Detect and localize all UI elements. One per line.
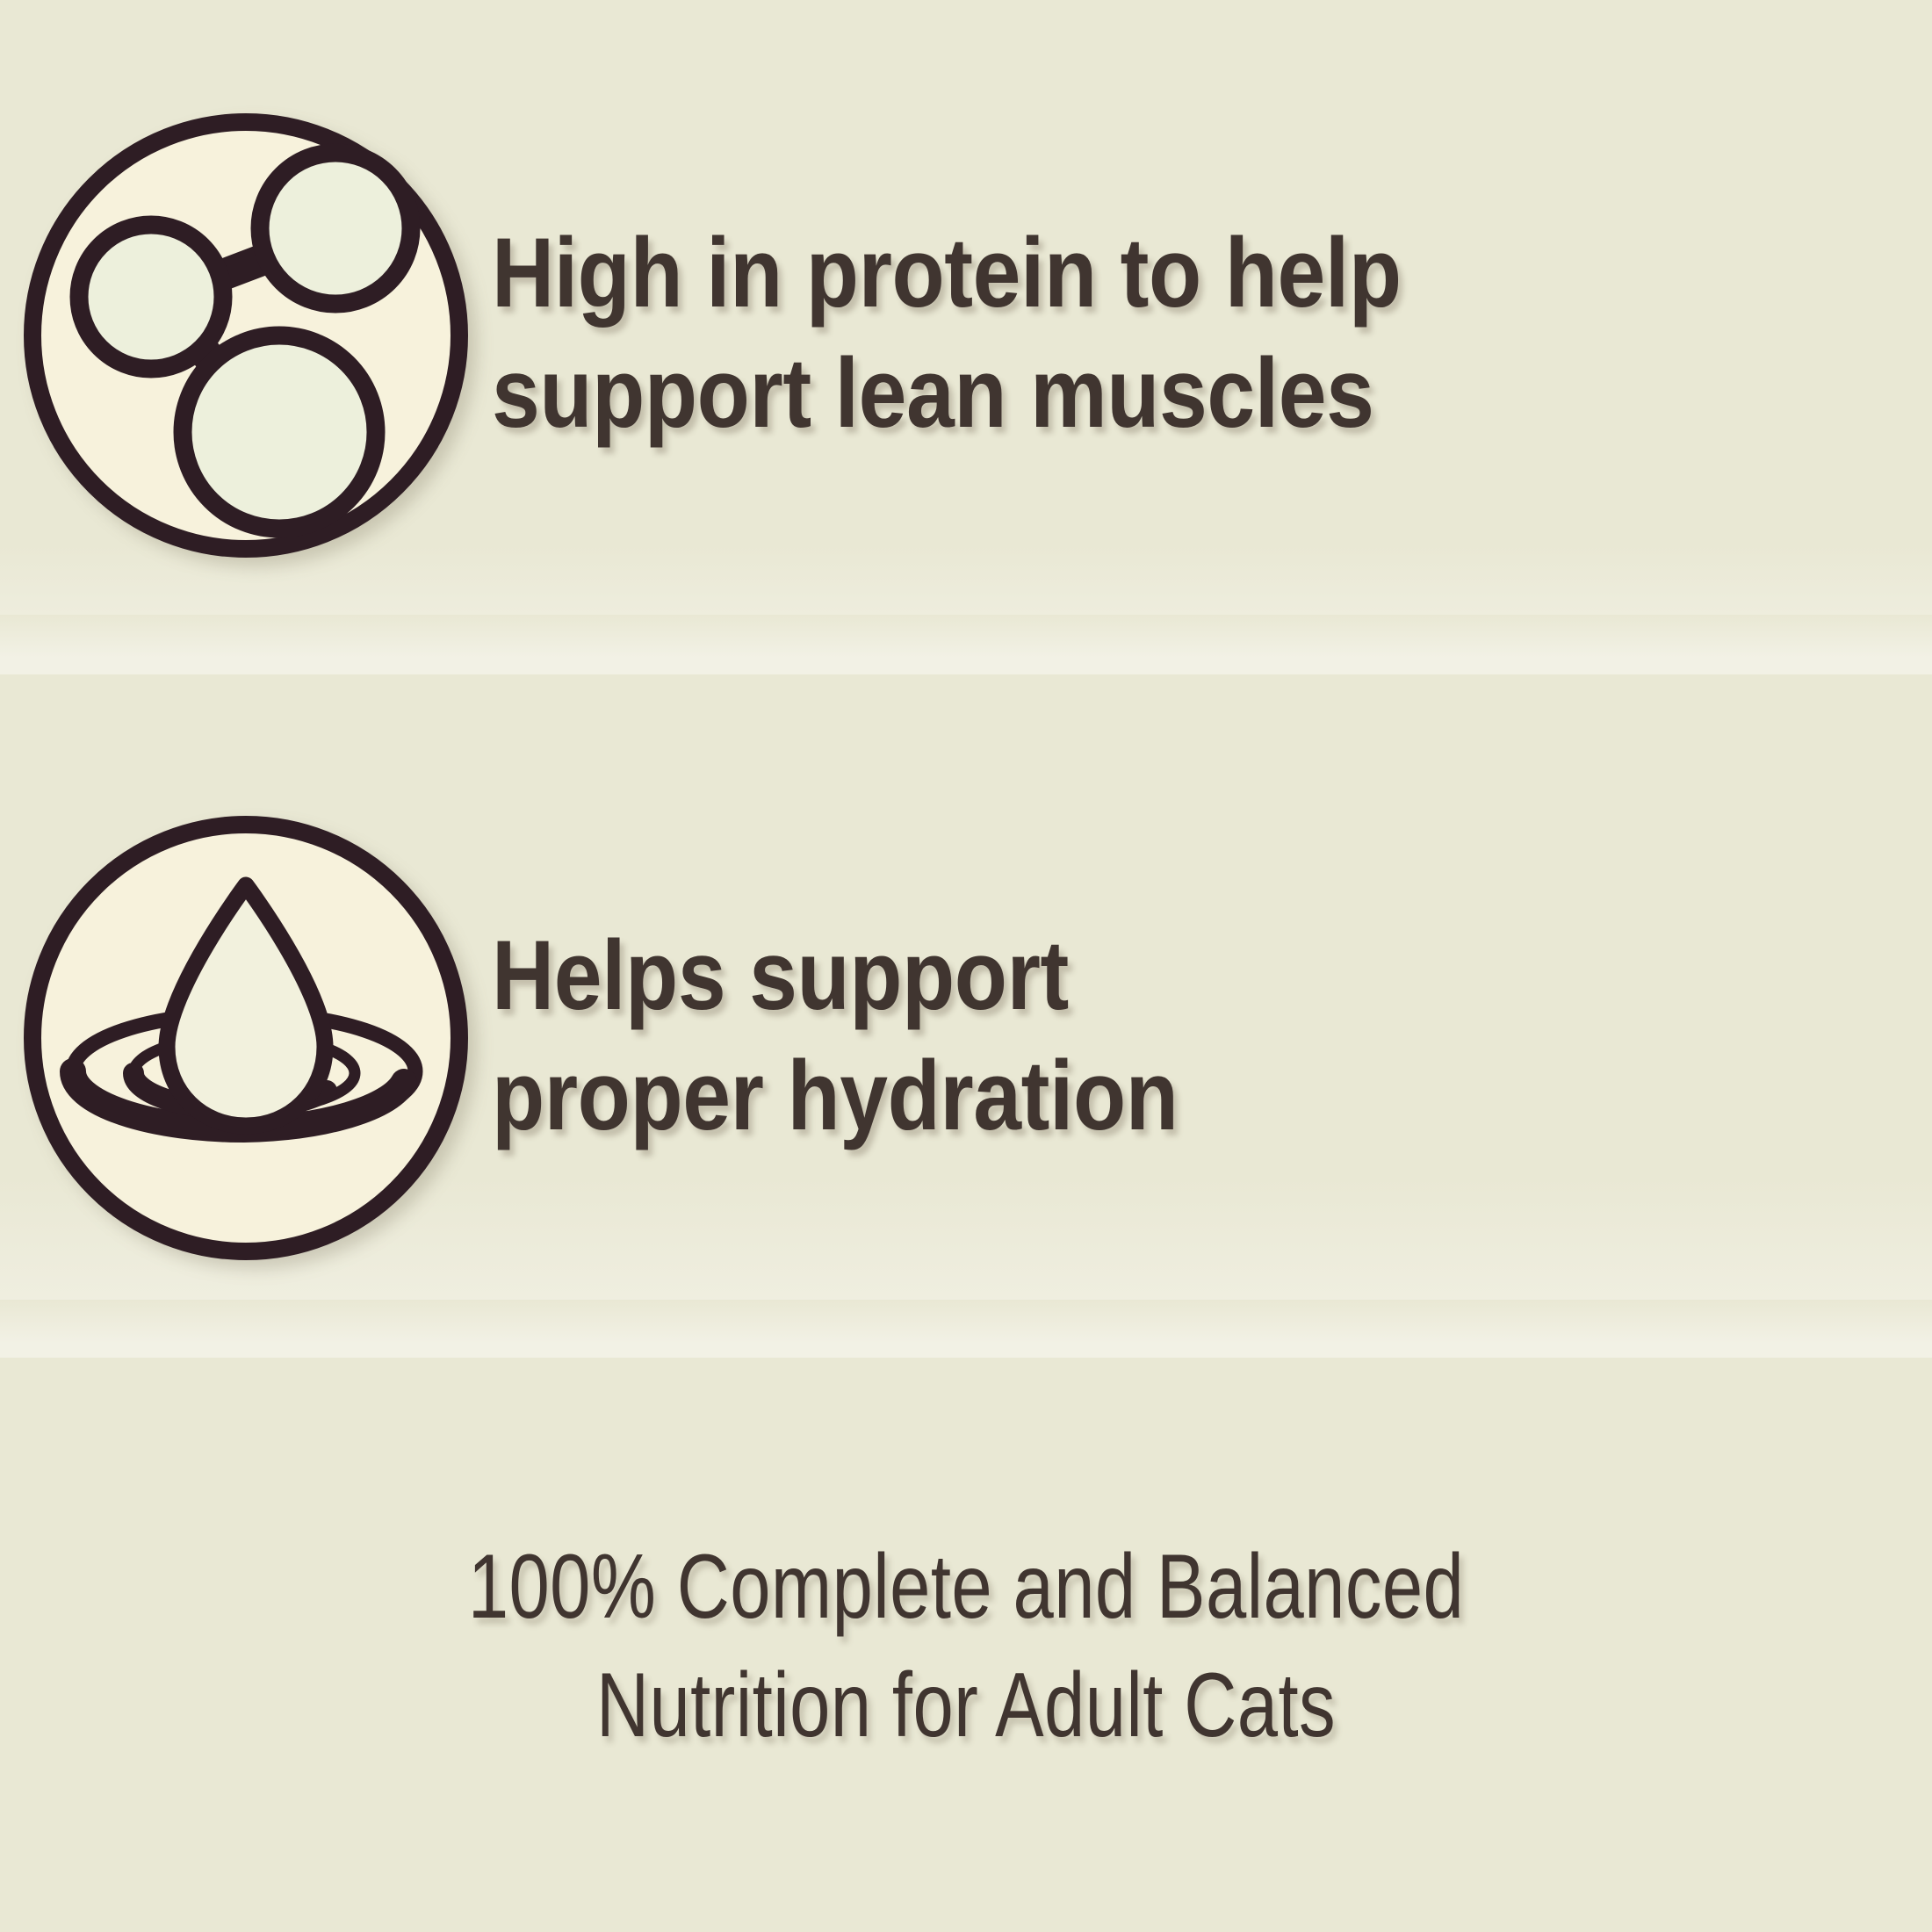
hydration-icon-container [0,790,492,1282]
feature-row-protein: High in protein to help support lean mus… [0,88,1932,580]
benefits-panel: High in protein to help support lean mus… [0,0,1932,1932]
feature-text-protein: High in protein to help support lean mus… [492,213,1432,453]
protein-molecule-icon [18,105,474,562]
feature-row-hydration: Helps support proper hydration [0,790,1932,1282]
background-fade-2 [0,1300,1932,1358]
protein-icon-container [0,88,492,580]
background-fade-1 [0,615,1932,674]
footer-block: 100% Complete and Balanced Nutrition for… [0,1528,1932,1765]
feature-text-hydration: Helps support proper hydration [492,916,1209,1156]
water-droplet-ripple-icon [18,808,474,1265]
footer-nutrition-claim: 100% Complete and Balanced Nutrition for… [193,1528,1739,1765]
